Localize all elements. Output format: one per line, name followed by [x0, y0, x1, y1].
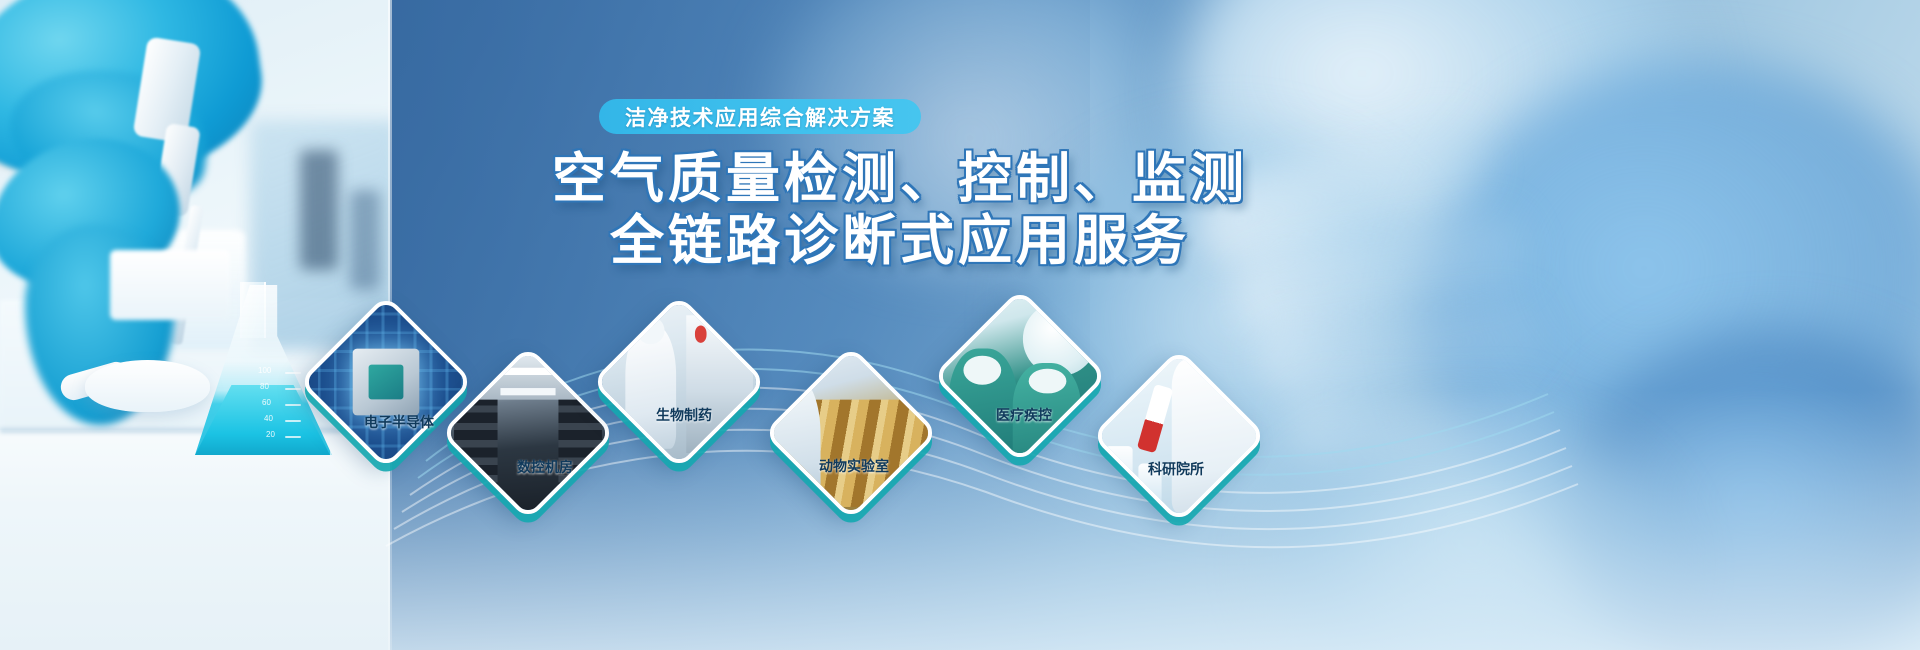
- flask-mark-label: 100: [258, 366, 271, 375]
- flask-mark-label: 20: [266, 430, 275, 439]
- left-lab-photo: 100 80 60 40 20: [0, 0, 390, 650]
- industry-card-label: 医疗疾控: [988, 405, 1060, 425]
- industry-card-label: 数控机房: [509, 457, 581, 477]
- headline-line-1: 空气质量检测、控制、监测: [390, 148, 1410, 210]
- industry-card-label: 动物实验室: [810, 456, 898, 476]
- industry-card-label: 科研院所: [1140, 459, 1212, 479]
- headline-block: 空气质量检测、控制、监测 全链路诊断式应用服务: [390, 148, 1410, 271]
- flask-mark-label: 40: [264, 414, 273, 423]
- promotional-banner: 100 80 60 40 20 洁净技术应用综合解决方案 空气质量检测、控制、监…: [0, 0, 1920, 650]
- industry-card-label: 电子半导体: [355, 412, 443, 432]
- badge-tagline: 洁净技术应用综合解决方案: [599, 99, 921, 134]
- headline-line-2: 全链路诊断式应用服务: [390, 210, 1410, 272]
- industry-card-label: 生物制药: [648, 405, 720, 425]
- lab-spoon-icon: [85, 360, 210, 412]
- flask-mark-label: 60: [262, 398, 271, 407]
- flask-mark-label: 80: [260, 382, 269, 391]
